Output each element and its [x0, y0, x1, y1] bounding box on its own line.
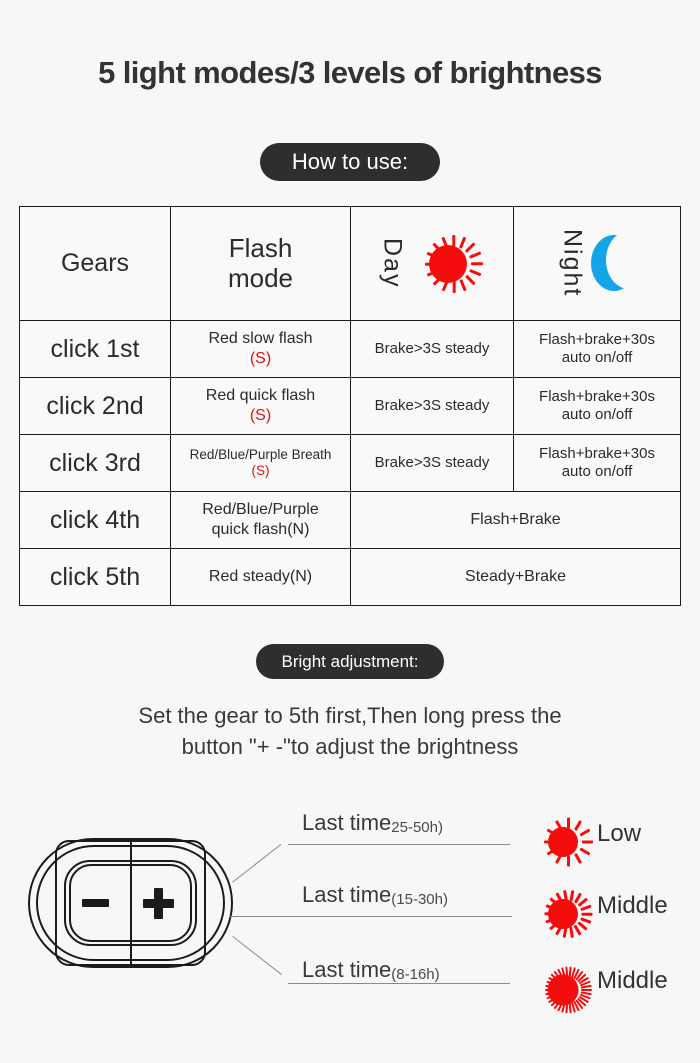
level-name-middle: Middle — [597, 892, 668, 920]
night-line2: auto on/off — [516, 463, 678, 481]
instruction-line1: Set the gear to 5th first,Then long pres… — [0, 700, 700, 731]
level-row-high: Last time (8-16h) — [302, 957, 440, 983]
table-row: click 2nd Red quick flash (S) Brake>3S s… — [20, 378, 681, 435]
level-row-middle: Last time (15-30h) — [302, 882, 448, 908]
level-name-high: Middle — [597, 967, 668, 995]
how-to-use-badge: How to use: — [260, 143, 440, 181]
last-time-hours: (8-16h) — [391, 966, 439, 983]
table-row: click 4th Red/Blue/Purple quick flash(N)… — [20, 492, 681, 549]
day-cell: Brake>3S steady — [351, 321, 514, 378]
day-cell: Brake>3S steady — [351, 378, 514, 435]
last-time-label: Last time — [302, 957, 391, 983]
flash-mode-line1: Red/Blue/Purple — [173, 500, 348, 520]
moon-icon — [591, 235, 635, 293]
light-modes-table: Gears Flash mode Day Night — [19, 206, 681, 606]
leader-line-high — [288, 983, 510, 984]
leader-line-low — [288, 844, 510, 845]
night-line1: Flash+brake+30s — [516, 445, 678, 463]
table-row: click 5th Red steady(N) Steady+Brake — [20, 549, 681, 606]
last-time-hours: 25-50h) — [391, 819, 443, 836]
flash-mode-cell: Red steady(N) — [171, 549, 351, 606]
header-night: Night — [514, 207, 681, 321]
flash-mode-cell: Red quick flash (S) — [171, 378, 351, 435]
flash-mode-cell: Red/Blue/Purple quick flash(N) — [171, 492, 351, 549]
header-day-label: Day — [380, 238, 405, 288]
header-flash-line1: Flash — [173, 234, 348, 263]
remote-button-divider — [130, 840, 132, 966]
day-night-merged-cell: Flash+Brake — [351, 492, 681, 549]
last-time-label: Last time — [302, 882, 391, 908]
flash-mode-text: Red slow flash — [173, 329, 348, 349]
sun-icon-high — [531, 958, 595, 1022]
level-name-low: Low — [597, 820, 641, 848]
flash-mode-text: Red quick flash — [173, 386, 348, 406]
table-row: click 3rd Red/Blue/Purple Breath (S) Bra… — [20, 435, 681, 492]
day-cell: Brake>3S steady — [351, 435, 514, 492]
night-cell: Flash+brake+30s auto on/off — [514, 435, 681, 492]
table-row: click 1st Red slow flash (S) Brake>3S st… — [20, 321, 681, 378]
header-day: Day — [351, 207, 514, 321]
flash-mode-suffix: (S) — [173, 406, 348, 426]
header-flash-mode: Flash mode — [171, 207, 351, 321]
gear-label: click 5th — [20, 549, 171, 606]
header-flash-line2: mode — [173, 264, 348, 293]
day-night-merged-cell: Steady+Brake — [351, 549, 681, 606]
gear-label: click 2nd — [20, 378, 171, 435]
brightness-diagram: Last time 25-50h) Low Last time (15-30h)… — [0, 790, 700, 1063]
header-night-label: Night — [560, 229, 585, 297]
flash-mode-cell: Red slow flash (S) — [171, 321, 351, 378]
plus-button-vertical-bar — [154, 888, 163, 919]
night-line2: auto on/off — [516, 406, 678, 424]
sun-icon — [411, 227, 485, 301]
level-row-low: Last time 25-50h) — [302, 810, 443, 836]
flash-mode-text: Red/Blue/Purple Breath — [173, 447, 348, 463]
remote-control[interactable] — [28, 838, 233, 968]
flash-mode-line2: quick flash(N) — [173, 520, 348, 540]
gear-label: click 3rd — [20, 435, 171, 492]
last-time-label: Last time — [302, 810, 391, 836]
flash-mode-cell: Red/Blue/Purple Breath (S) — [171, 435, 351, 492]
last-time-hours: (15-30h) — [391, 891, 448, 908]
minus-button[interactable] — [82, 899, 109, 907]
flash-mode-suffix: (S) — [173, 349, 348, 369]
sun-icon-low — [533, 812, 593, 872]
night-line2: auto on/off — [516, 349, 678, 367]
flash-mode-line1: Red steady(N) — [173, 567, 348, 587]
flash-mode-suffix: (S) — [173, 463, 348, 479]
night-cell: Flash+brake+30s auto on/off — [514, 378, 681, 435]
sun-icon-middle — [533, 884, 593, 944]
leader-line-diagonal-low — [232, 844, 281, 883]
gear-label: click 4th — [20, 492, 171, 549]
leader-line-middle — [230, 916, 512, 917]
page-title: 5 light modes/3 levels of brightness — [0, 55, 700, 91]
night-line1: Flash+brake+30s — [516, 331, 678, 349]
leader-line-diagonal-high — [232, 936, 281, 975]
gear-label: click 1st — [20, 321, 171, 378]
bright-adjustment-badge: Bright adjustment: — [256, 644, 444, 679]
night-cell: Flash+brake+30s auto on/off — [514, 321, 681, 378]
table-header-row: Gears Flash mode Day Night — [20, 207, 681, 321]
instruction-line2: button "+ -"to adjust the brightness — [0, 731, 700, 762]
night-line1: Flash+brake+30s — [516, 388, 678, 406]
header-gears: Gears — [20, 207, 171, 321]
brightness-instruction: Set the gear to 5th first,Then long pres… — [0, 700, 700, 762]
